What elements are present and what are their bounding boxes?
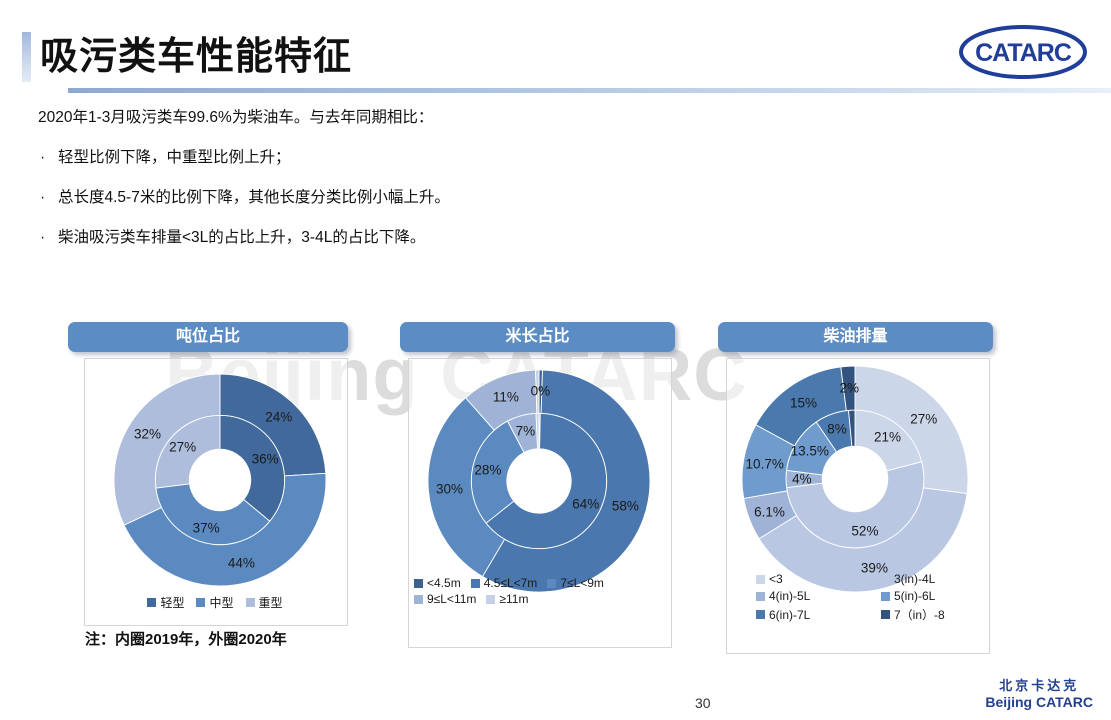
bullet-marker: ·	[40, 225, 45, 251]
legend-label: 轻型	[160, 594, 184, 611]
donut-slice-label: 27%	[910, 411, 937, 426]
page-title: 吸污类车性能特征	[40, 32, 352, 82]
donut-slice-label: 32%	[134, 426, 161, 441]
legend-label: <3	[769, 572, 783, 586]
legend-swatch-icon	[147, 598, 156, 607]
chart-title-displacement: 柴油排量	[718, 322, 993, 352]
donut-slice-label: 11%	[493, 390, 519, 405]
donut-slice-label: 52%	[851, 524, 878, 539]
legend-swatch-icon	[881, 610, 890, 619]
donut-slice-label: 21%	[874, 430, 901, 445]
lead-paragraph: 2020年1-3月吸污类车99.6%为柴油车。与去年同期相比：	[38, 105, 738, 131]
donut-slice-label: 4%	[792, 472, 812, 487]
legend-label: 5(in)-6L	[894, 589, 935, 603]
legend-item[interactable]: 4(in)-5L	[756, 589, 881, 603]
legend-item[interactable]: 7（in）-8	[881, 606, 1006, 623]
chart-panel-length: 米长占比 64%28%7%0%58%30%11% <4.5m4.5≤L<7m7≤…	[400, 322, 690, 622]
legend-label: 重型	[259, 594, 283, 611]
bullet-item-3: · 柴油吸污类车排量<3L的占比上升，3-4L的占比下降。	[38, 225, 738, 251]
legend-swatch-icon	[246, 598, 255, 607]
legend-item[interactable]: <4.5m	[414, 576, 461, 590]
donut-slice-label: 64%	[572, 497, 599, 512]
chart-legend-displacement[interactable]: <33(in)-4L4(in)-5L5(in)-6L6(in)-7L7（in）-…	[734, 572, 1006, 623]
donut-slice-label: 44%	[228, 556, 255, 571]
donut-slice-label: 27%	[169, 440, 196, 455]
legend-item[interactable]: 轻型	[147, 594, 184, 611]
donut-slice-label: 30%	[436, 482, 463, 497]
chart-title-tonnage: 吨位占比	[68, 322, 348, 352]
legend-label: 3(in)-4L	[894, 572, 935, 586]
title-accent-bar	[22, 32, 31, 82]
legend-item[interactable]: 3(in)-4L	[881, 572, 1006, 586]
legend-item[interactable]: <3	[756, 572, 881, 586]
chart-panel-tonnage: 吨位占比 36%37%27%24%44%32% 轻型中型重型	[68, 322, 368, 622]
legend-swatch-icon	[471, 579, 480, 588]
slide-header: 吸污类车性能特征 CATARC	[0, 0, 1111, 96]
chart-note: 注：内圈2019年，外圈2020年	[85, 628, 287, 649]
page-number: 30	[695, 695, 711, 711]
donut-slice-label: 8%	[827, 422, 847, 437]
legend-label: 7（in）-8	[894, 606, 945, 623]
legend-label: 6(in)-7L	[769, 608, 810, 622]
footer-brand-cn: 北京卡达克	[985, 678, 1093, 694]
legend-label: ≥11m	[499, 592, 528, 606]
catarc-logo: CATARC	[957, 24, 1089, 80]
legend-item[interactable]: 6(in)-7L	[756, 606, 881, 623]
legend-swatch-icon	[486, 595, 495, 604]
donut-slice-label: 6.1%	[754, 504, 785, 519]
legend-swatch-icon	[414, 595, 423, 604]
legend-swatch-icon	[881, 575, 890, 584]
bullet-text: 柴油吸污类车排量<3L的占比上升，3-4L的占比下降。	[58, 229, 425, 246]
bullet-text: 总长度4.5-7米的比例下降，其他长度分类比例小幅上升。	[58, 189, 450, 206]
footer-brand: 北京卡达克 Beijing CATARC	[985, 678, 1093, 710]
donut-slice-label: 28%	[474, 463, 501, 478]
catarc-logo-text: CATARC	[975, 39, 1072, 67]
legend-label: <4.5m	[427, 576, 461, 590]
donut-slice-label: 7%	[516, 423, 536, 438]
footer-brand-en: Beijing CATARC	[985, 694, 1093, 710]
bullet-text: 轻型比例下降，中重型比例上升；	[58, 149, 291, 166]
legend-item[interactable]: ≥11m	[486, 592, 528, 606]
slide-body-text: 2020年1-3月吸污类车99.6%为柴油车。与去年同期相比： · 轻型比例下降…	[38, 105, 738, 265]
legend-item[interactable]: 重型	[246, 594, 283, 611]
legend-label: 中型	[209, 594, 233, 611]
donut-slice-label: 36%	[252, 451, 279, 466]
legend-item[interactable]: 中型	[196, 594, 233, 611]
donut-slice-label: 37%	[193, 520, 220, 535]
legend-swatch-icon	[414, 579, 423, 588]
donut-slice-label: 24%	[265, 410, 292, 425]
donut-svg	[742, 366, 968, 592]
bullet-marker: ·	[40, 145, 45, 171]
legend-label: 9≤L<11m	[427, 592, 476, 606]
donut-slice-label: 0%	[531, 384, 551, 399]
legend-item[interactable]: 9≤L<11m	[414, 592, 476, 606]
donut-slice-label: 13.5%	[791, 444, 829, 459]
chart-title-length: 米长占比	[400, 322, 675, 352]
legend-item[interactable]: 7≤L<9m	[547, 576, 604, 590]
legend-swatch-icon	[756, 575, 765, 584]
donut-chart-displacement[interactable]: 21%52%4%13.5%8%27%39%6.1%10.7%15%2%	[742, 366, 968, 592]
donut-chart-length[interactable]: 64%28%7%0%58%30%11%	[428, 370, 650, 592]
donut-svg	[114, 374, 326, 586]
header-divider	[68, 88, 1111, 93]
legend-item[interactable]: 4.5≤L<7m	[471, 576, 538, 590]
donut-slice-label: 10.7%	[746, 457, 784, 472]
legend-swatch-icon	[547, 579, 556, 588]
chart-legend-tonnage[interactable]: 轻型中型重型	[88, 594, 342, 611]
chart-panel-displacement: 柴油排量 21%52%4%13.5%8%27%39%6.1%10.7%15%2%…	[718, 322, 1008, 622]
legend-item[interactable]: 5(in)-6L	[881, 589, 1006, 603]
legend-swatch-icon	[756, 592, 765, 601]
chart-legend-length[interactable]: <4.5m4.5≤L<7m7≤L<9m9≤L<11m≥11m	[414, 576, 666, 606]
donut-chart-tonnage[interactable]: 36%37%27%24%44%32%	[114, 374, 326, 586]
bullet-marker: ·	[40, 185, 45, 211]
legend-swatch-icon	[881, 592, 890, 601]
legend-swatch-icon	[196, 598, 205, 607]
legend-label: 4.5≤L<7m	[484, 576, 538, 590]
legend-swatch-icon	[756, 610, 765, 619]
legend-label: 7≤L<9m	[560, 576, 604, 590]
donut-slice-label: 58%	[612, 499, 639, 514]
legend-label: 4(in)-5L	[769, 589, 810, 603]
donut-slice-label: 2%	[839, 380, 859, 395]
bullet-item-2: · 总长度4.5-7米的比例下降，其他长度分类比例小幅上升。	[38, 185, 738, 211]
donut-slice-label: 15%	[790, 396, 817, 411]
bullet-item-1: · 轻型比例下降，中重型比例上升；	[38, 145, 738, 171]
